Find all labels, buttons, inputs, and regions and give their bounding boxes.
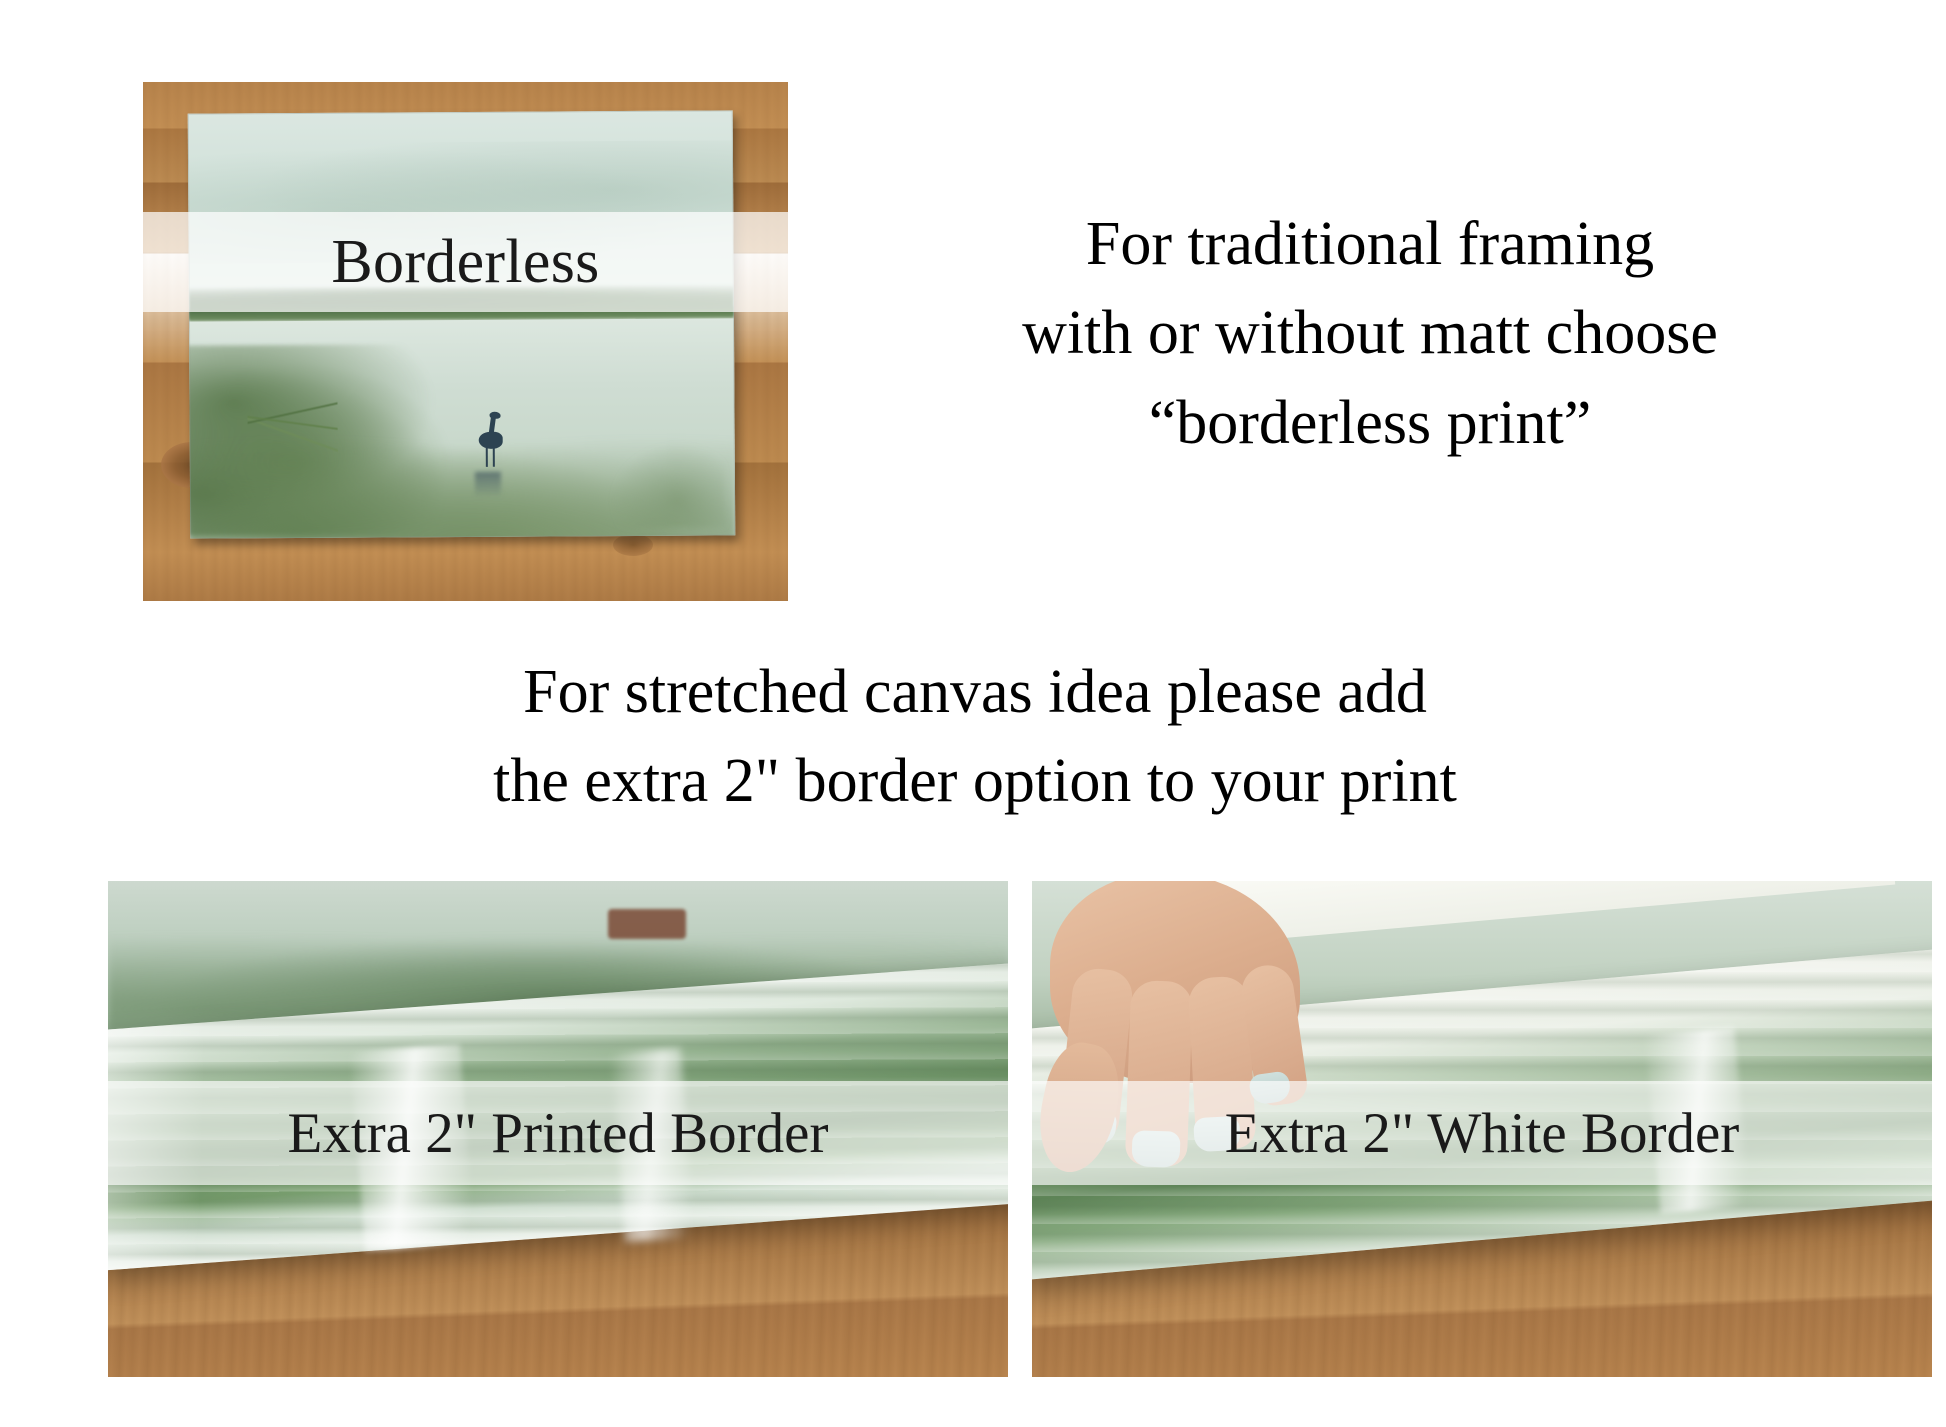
borderless-caption-text: Borderless [331, 227, 599, 298]
printed-border-photo: Extra 2" Printed Border [108, 881, 1008, 1377]
printed-border-caption-text: Extra 2" Printed Border [288, 1101, 829, 1166]
canvas-line-2: the extra 2" border option to your print [330, 737, 1620, 826]
printed-border-caption-band: Extra 2" Printed Border [108, 1081, 1008, 1185]
stretched-canvas-text: For stretched canvas idea please add the… [330, 648, 1620, 827]
traditional-framing-text: For traditional framing with or without … [880, 200, 1860, 468]
white-border-caption-text: Extra 2" White Border [1225, 1101, 1739, 1166]
paper-edge [188, 110, 736, 538]
wood-knot-secondary [613, 534, 653, 556]
watercolour-print-sheet [188, 110, 736, 538]
canvas-top-building [608, 909, 686, 939]
borderless-print-photo: Borderless [143, 82, 788, 601]
white-border-caption-band: Extra 2" White Border [1032, 1081, 1932, 1185]
framing-line-1: For traditional framing [880, 200, 1860, 289]
framing-line-3: “borderless print” [880, 379, 1860, 468]
framing-line-2: with or without matt choose [880, 289, 1860, 378]
canvas-line-1: For stretched canvas idea please add [330, 648, 1620, 737]
white-border-photo: Extra 2" White Border [1032, 881, 1932, 1377]
borderless-caption-band: Borderless [143, 212, 788, 312]
